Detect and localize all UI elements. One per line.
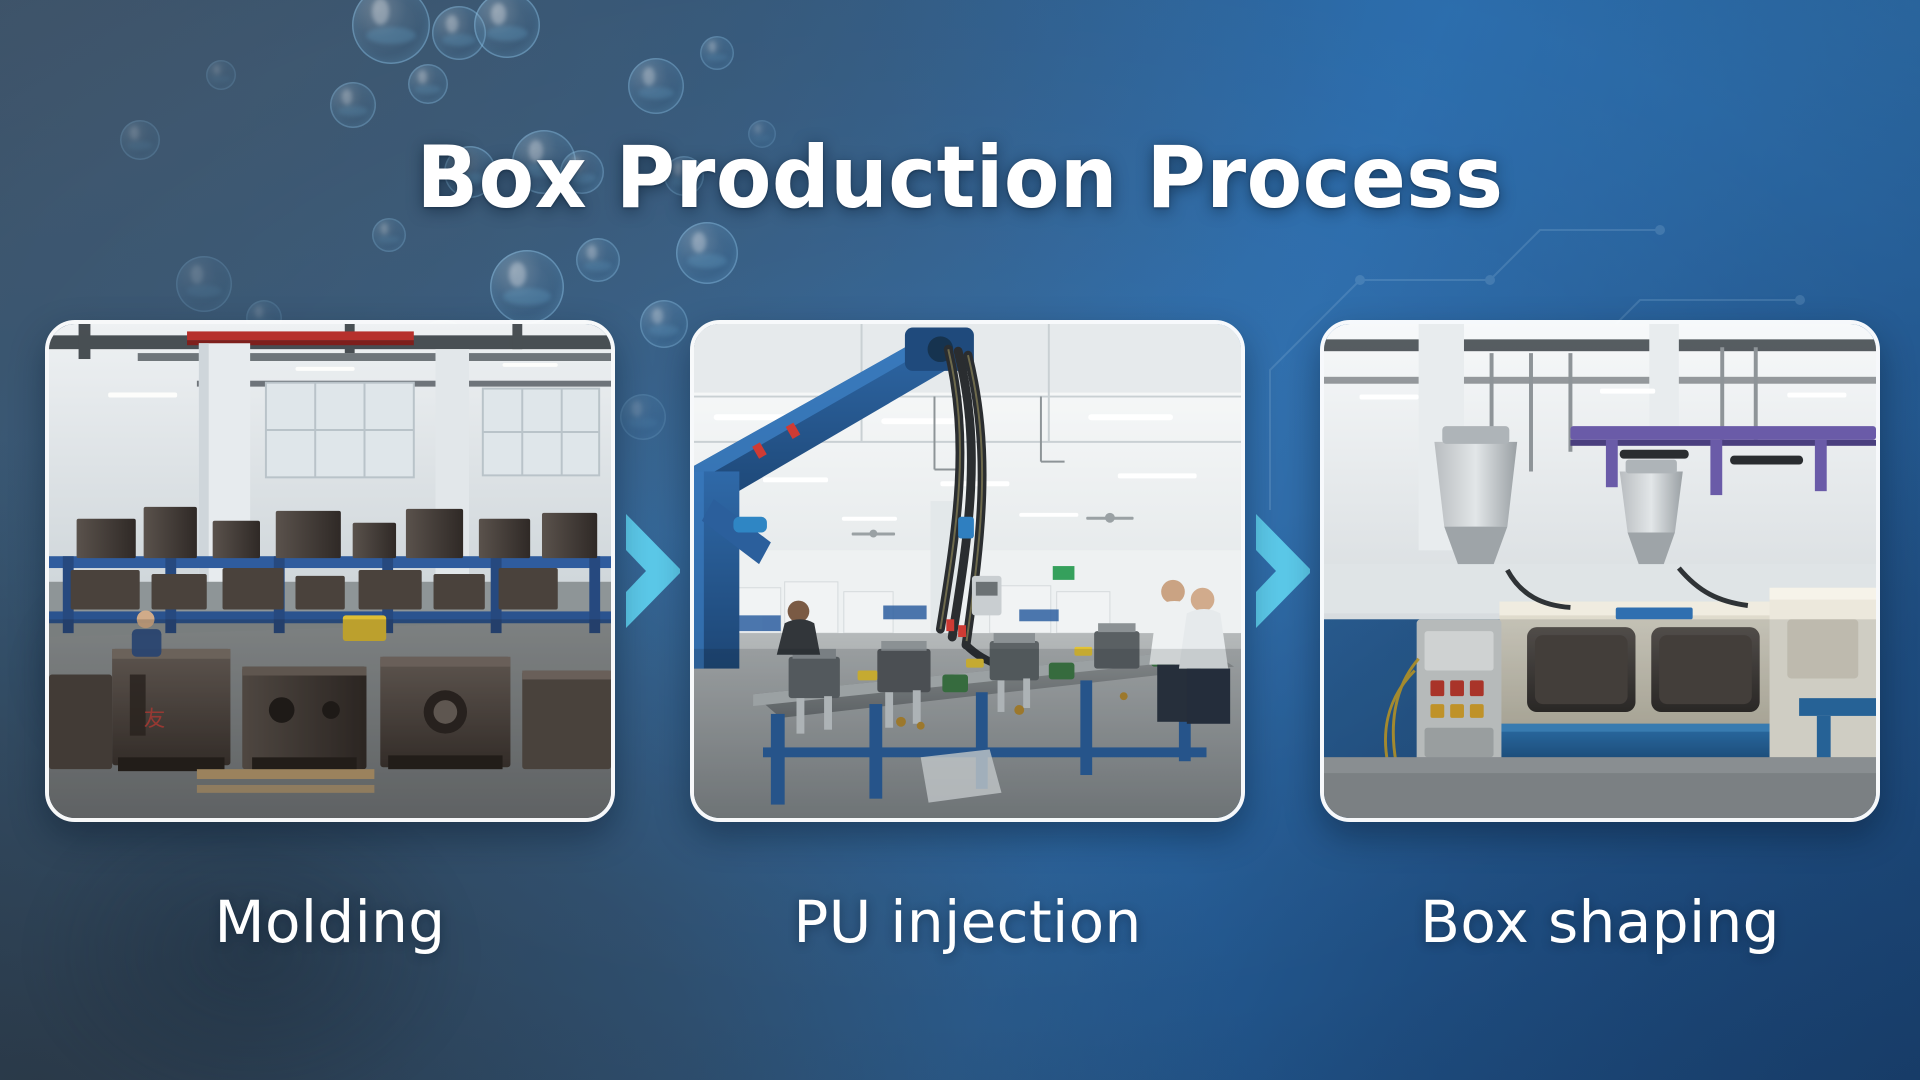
separator-1 xyxy=(615,512,690,630)
label-gap-1 xyxy=(615,862,690,982)
step-label-molding: Molding xyxy=(45,862,615,982)
process-steps-row: 友 xyxy=(45,320,1880,822)
step-labels-row: Molding PU injection Box shaping xyxy=(45,862,1880,982)
label-gap-2 xyxy=(1245,862,1320,982)
step-card-box-shaping[interactable] xyxy=(1320,320,1880,822)
page-title: Box Production Process xyxy=(58,128,1863,228)
chevron-right-icon xyxy=(620,512,686,630)
molding-photo: 友 xyxy=(49,324,611,818)
chevron-right-icon xyxy=(1250,512,1316,630)
infographic-canvas: Box Production Process xyxy=(0,0,1920,1080)
step-card-molding[interactable]: 友 xyxy=(45,320,615,822)
step-label-box-shaping: Box shaping xyxy=(1320,862,1880,982)
step-card-pu-injection[interactable] xyxy=(690,320,1245,822)
pu-injection-photo xyxy=(694,324,1241,818)
step-label-pu-injection: PU injection xyxy=(690,862,1245,982)
box-shaping-photo xyxy=(1324,324,1876,818)
separator-2 xyxy=(1245,512,1320,630)
